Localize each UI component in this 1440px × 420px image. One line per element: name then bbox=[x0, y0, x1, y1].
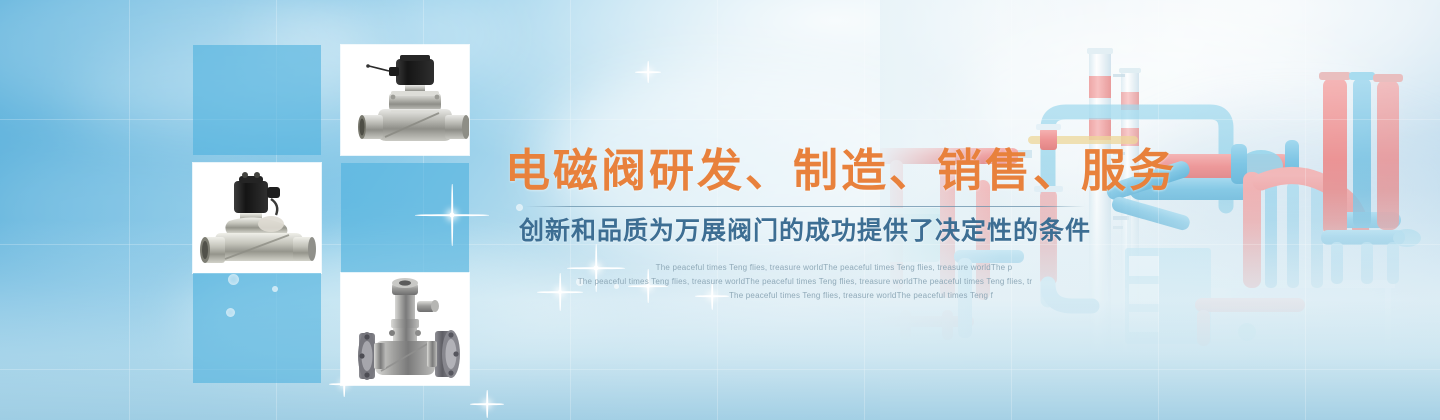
blurb-line-2: The peaceful times Teng flies, treasure … bbox=[505, 275, 1105, 289]
title-divider bbox=[525, 206, 1085, 207]
bokeh-dot bbox=[226, 308, 235, 317]
banner-title: 电磁阀研发、制造、销售、服务 bbox=[505, 148, 1105, 193]
decorative-blue-tile bbox=[193, 273, 321, 383]
product-image-solenoid-valve-flanged[interactable] bbox=[341, 273, 469, 385]
banner-copy: 电磁阀研发、制造、销售、服务 创新和品质为万展阀门的成功提供了决定性的条件 Th… bbox=[505, 148, 1105, 303]
decorative-blue-tile bbox=[193, 45, 321, 155]
blurb-line-1: The peaceful times Teng flies, treasure … bbox=[505, 261, 1105, 275]
bokeh-dot bbox=[228, 274, 239, 285]
product-image-solenoid-valve-threaded-top[interactable] bbox=[341, 45, 469, 155]
blurb-line-3: The peaceful times Teng flies, treasure … bbox=[505, 289, 1105, 303]
product-image-solenoid-valve-threaded-left[interactable] bbox=[193, 163, 321, 273]
banner-blurb: The peaceful times Teng flies, treasure … bbox=[505, 261, 1105, 303]
banner-subtitle: 创新和品质为万展阀门的成功提供了决定性的条件 bbox=[505, 218, 1105, 246]
product-tile-grid bbox=[193, 45, 483, 370]
hero-banner: 电磁阀研发、制造、销售、服务 创新和品质为万展阀门的成功提供了决定性的条件 Th… bbox=[0, 0, 1440, 420]
decorative-blue-tile bbox=[341, 163, 469, 273]
bokeh-dot bbox=[272, 286, 278, 292]
